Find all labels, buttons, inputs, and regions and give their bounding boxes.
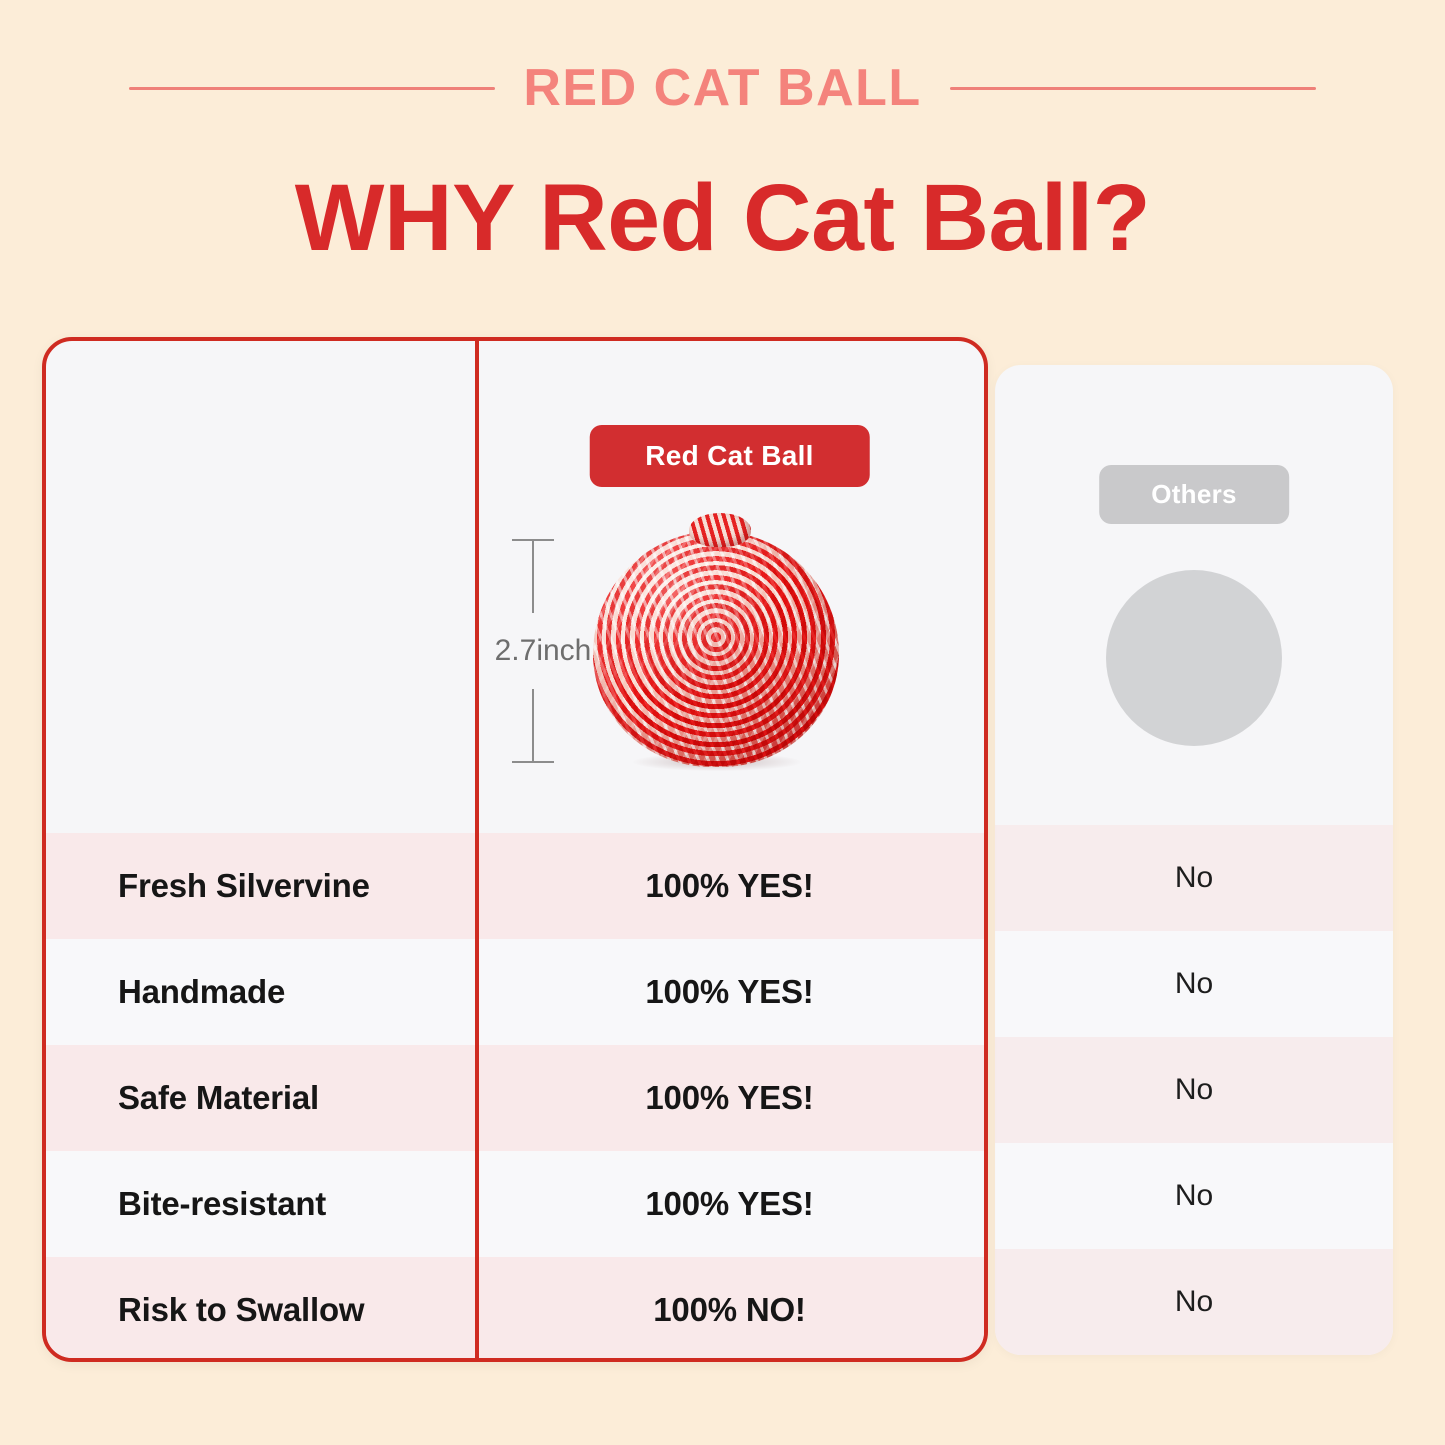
others-value-cell: No (995, 1037, 1393, 1143)
table-row: Handmade 100% YES! (46, 939, 984, 1045)
product-value: 100% YES! (475, 1151, 984, 1257)
product-value: 100% YES! (475, 833, 984, 939)
product-showcase: Red Cat Ball 2.7inch (475, 341, 984, 833)
table-row: Fresh Silvervine 100% YES! (46, 833, 984, 939)
ball-knit-texture (593, 531, 839, 767)
others-badge: Others (1099, 465, 1289, 524)
page-title: WHY Red Cat Ball? (0, 166, 1445, 271)
product-card-header: Red Cat Ball 2.7inch (46, 341, 984, 833)
gray-circle-placeholder-icon (1106, 570, 1282, 746)
feature-label: Bite-resistant (46, 1151, 475, 1257)
feature-label: Fresh Silvervine (46, 833, 475, 939)
others-values-list: No No No No No (995, 825, 1393, 1355)
others-value-cell: No (995, 825, 1393, 931)
red-crochet-cat-ball-image (593, 513, 847, 767)
eyebrow-rule-right (950, 87, 1316, 90)
others-value-cell: No (995, 1249, 1393, 1355)
others-column-panel: Others No No No No No (995, 365, 1393, 1355)
table-row: Safe Material 100% YES! (46, 1045, 984, 1151)
dimension-cap-bottom-icon (512, 761, 554, 763)
eyebrow-header: RED CAT BALL (0, 52, 1445, 124)
product-badge: Red Cat Ball (589, 425, 870, 487)
feature-label: Risk to Swallow (46, 1257, 475, 1362)
ball-top-knot (689, 513, 751, 547)
column-divider (475, 341, 479, 1358)
product-value: 100% YES! (475, 1045, 984, 1151)
product-value: 100% YES! (475, 939, 984, 1045)
feature-label: Safe Material (46, 1045, 475, 1151)
product-value: 100% NO! (475, 1257, 984, 1362)
eyebrow-title: RED CAT BALL (523, 62, 921, 114)
table-row: Bite-resistant 100% YES! (46, 1151, 984, 1257)
table-row: Risk to Swallow 100% NO! (46, 1257, 984, 1362)
others-column-header: Others (995, 365, 1393, 825)
others-value-cell: No (995, 1143, 1393, 1249)
product-card-header-left-spacer (46, 341, 475, 833)
ball-body (593, 531, 839, 767)
eyebrow-rule-left (129, 87, 495, 90)
feature-label: Handmade (46, 939, 475, 1045)
dimension-line-lower-icon (532, 689, 534, 761)
product-comparison-card: Red Cat Ball 2.7inch Fresh Silvervine 10… (42, 337, 988, 1362)
comparison-rows: Fresh Silvervine 100% YES! Handmade 100%… (46, 833, 984, 1362)
dimension-indicator: 2.7inch (503, 539, 581, 763)
others-value-cell: No (995, 931, 1393, 1037)
dimension-line-upper-icon (532, 541, 534, 613)
